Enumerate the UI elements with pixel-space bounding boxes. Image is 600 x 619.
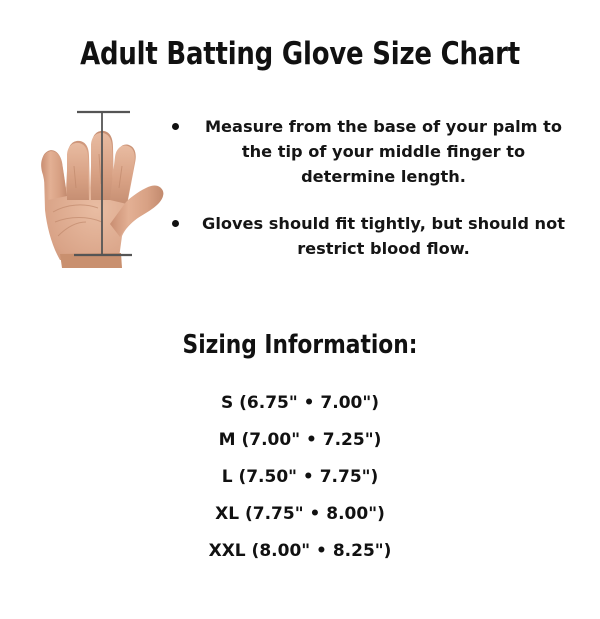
size-row-s: S (6.75" • 7.00") (0, 392, 600, 429)
size-list: S (6.75" • 7.00") M (7.00" • 7.25") L (7… (0, 392, 600, 577)
size-row-m: M (7.00" • 7.25") (0, 429, 600, 466)
sizing-information-heading: Sizing Information: (21, 330, 579, 360)
list-item: Gloves should fit tightly, but should no… (172, 211, 572, 261)
size-row-l: L (7.50" • 7.75") (0, 466, 600, 503)
instruction-text: Gloves should fit tightly, but should no… (201, 211, 572, 261)
bullet-dot-icon (172, 220, 179, 227)
hand-measurement-illustration (22, 96, 170, 271)
size-row-xxl: XXL (8.00" • 8.25") (0, 540, 600, 577)
bullet-dot-icon (172, 123, 179, 130)
size-chart-page: Adult Batting Glove Size Chart (0, 0, 600, 619)
page-title: Adult Batting Glove Size Chart (21, 36, 579, 72)
size-row-xl: XL (7.75" • 8.00") (0, 503, 600, 540)
list-item: Measure from the base of your palm to th… (172, 114, 572, 189)
instructions-list: Measure from the base of your palm to th… (172, 114, 572, 283)
instruction-text: Measure from the base of your palm to th… (201, 114, 572, 189)
